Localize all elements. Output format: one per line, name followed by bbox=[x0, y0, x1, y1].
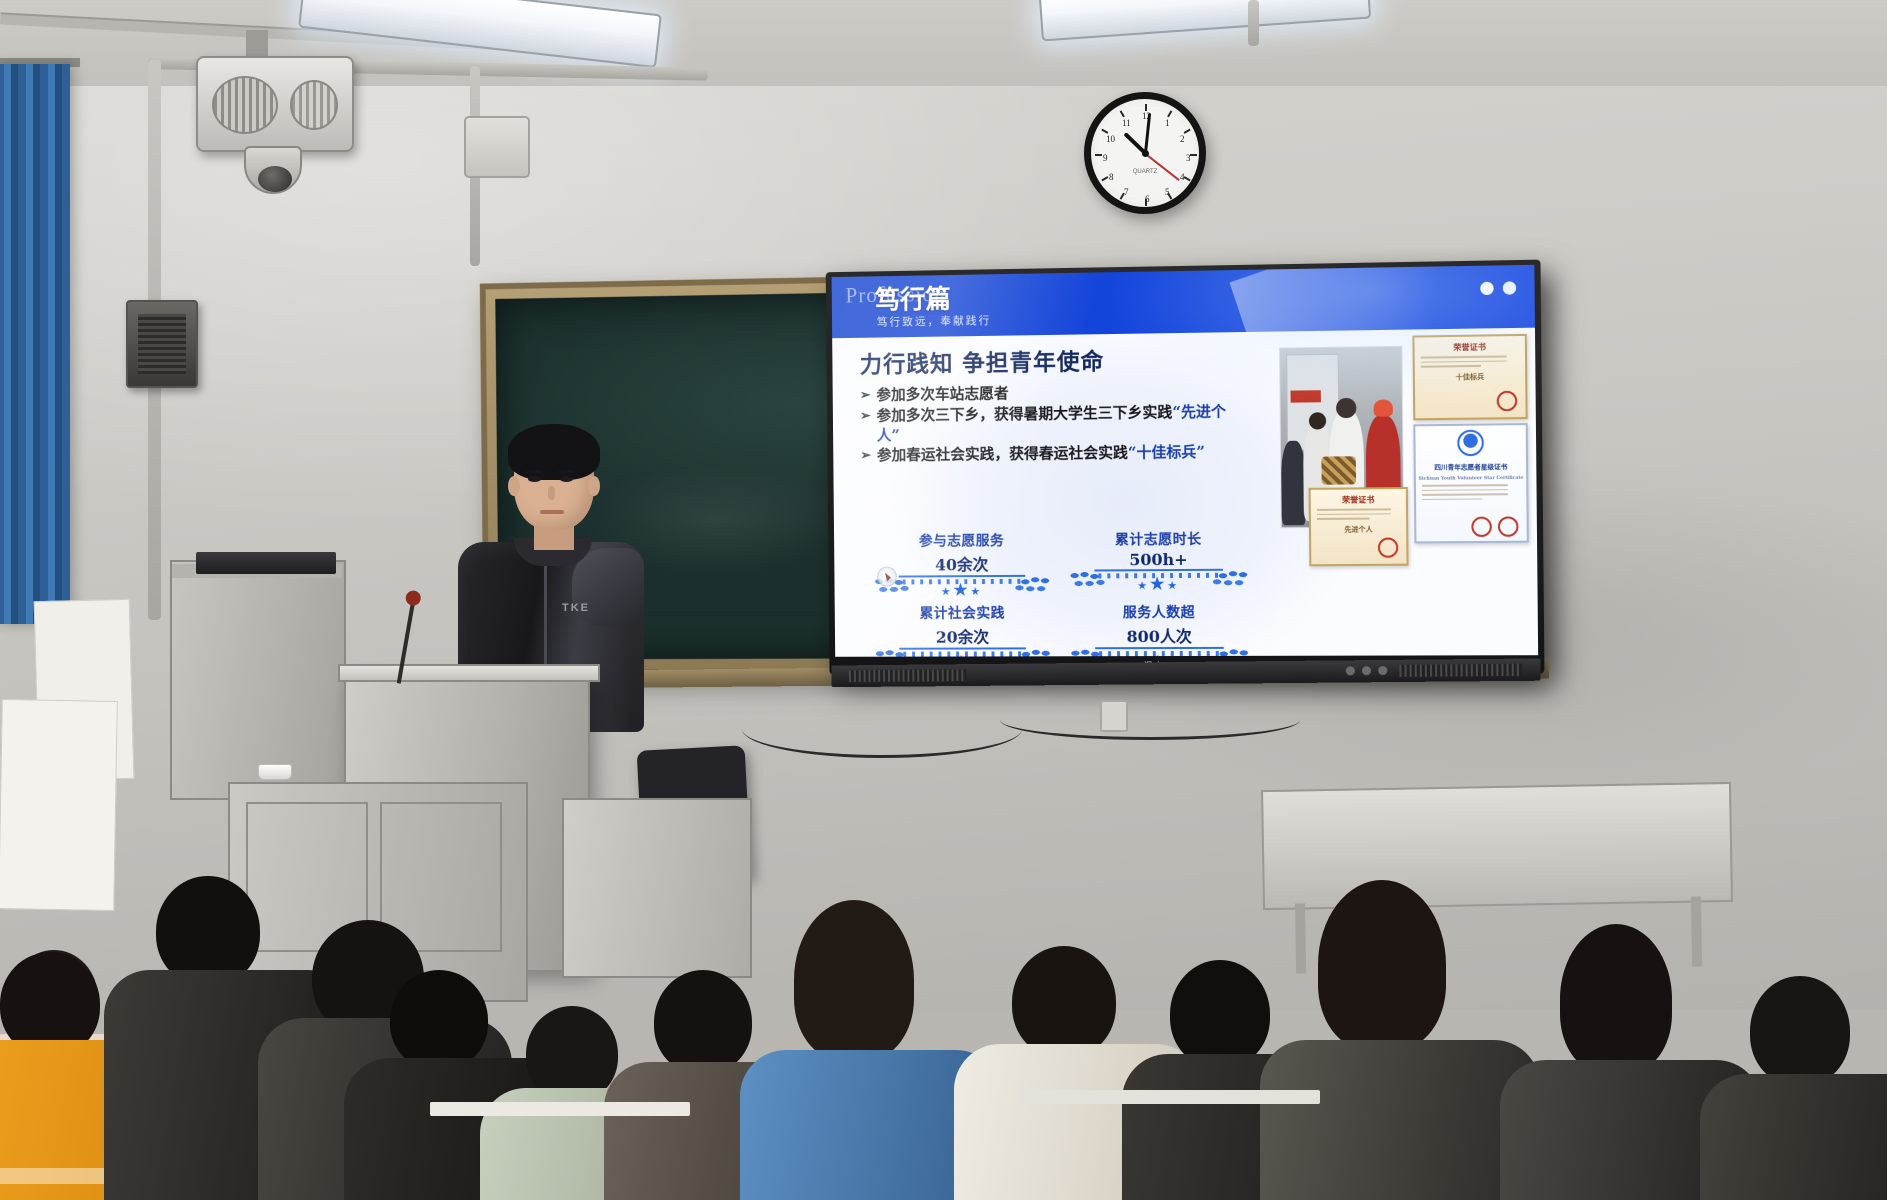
presenter-jacket-logo: TKE bbox=[562, 602, 590, 614]
student-head bbox=[654, 970, 752, 1074]
honor-certificate-top: 荣誉证书 十佳标兵 bbox=[1412, 334, 1527, 420]
presenter-eyebrow bbox=[558, 470, 574, 473]
audience-foreground bbox=[0, 800, 1887, 1200]
photo-person-head bbox=[1336, 398, 1356, 418]
certificate-title: 荣誉证书 bbox=[1311, 494, 1406, 506]
certificate-subtitle: Sichuan Youth Volunteer Star Certificate bbox=[1416, 476, 1526, 482]
clock-brand-text: QUARTZ bbox=[1091, 169, 1199, 175]
wall-junction-box bbox=[464, 116, 530, 178]
soundbar-button[interactable] bbox=[1378, 666, 1387, 675]
presenter-shoulder-panel bbox=[572, 548, 644, 626]
hanging-cable bbox=[742, 700, 1022, 758]
clock-numeral-7: 7 bbox=[1124, 187, 1129, 197]
bullet-arrow-icon: ➢ bbox=[860, 407, 871, 426]
lectern-top bbox=[338, 664, 600, 682]
presenter-eye bbox=[560, 476, 573, 482]
student-head bbox=[1560, 924, 1672, 1074]
student-desk bbox=[1020, 1090, 1320, 1104]
laurel-wreath-icon: ★★★ bbox=[1069, 567, 1250, 594]
clock-numeral-2: 2 bbox=[1180, 134, 1185, 144]
slide-header-band: Profession 笃行篇 笃行致远，奉献践行 bbox=[832, 265, 1535, 338]
certificate-subtitle: 先进个人 bbox=[1311, 524, 1406, 535]
presenter-hair bbox=[508, 424, 600, 480]
certificate-title: 四川青年志愿者星级证书 bbox=[1416, 461, 1526, 472]
interactive-display[interactable]: Profession 笃行篇 笃行致远，奉献践行 力行践知 争担青年使命 ➢ 参… bbox=[826, 260, 1545, 675]
stat-label: 参与志愿服务 bbox=[873, 530, 1051, 551]
soundbar-button[interactable] bbox=[1362, 666, 1371, 675]
presenter-eyebrow bbox=[526, 470, 542, 473]
slide-text-column: 力行践知 争担青年使命 ➢ 参加多次车站志愿者 ➢ 参加多次三下乡，获得暑期大学… bbox=[859, 340, 1246, 467]
photo-handbag bbox=[1321, 456, 1356, 485]
stat-card: 服务人数超 800人次 ★★★ bbox=[1069, 602, 1250, 657]
display-screen[interactable]: Profession 笃行篇 笃行致远，奉献践行 力行践知 争担青年使命 ➢ 参… bbox=[832, 265, 1539, 657]
slide-title: 力行践知 争担青年使命 bbox=[859, 340, 1245, 379]
conduit-pipe-right bbox=[1248, 0, 1259, 46]
clock-numeral-10: 10 bbox=[1106, 134, 1115, 144]
bullet-text-highlight: “十佳标兵” bbox=[1128, 443, 1205, 462]
laurel-wreath-icon: ★★★ bbox=[1069, 645, 1250, 657]
hanging-cable bbox=[1000, 700, 1300, 740]
certificate-seal-icon bbox=[1471, 517, 1492, 537]
certificate-seal-icon bbox=[1378, 538, 1398, 558]
clock-numeral-5: 5 bbox=[1165, 187, 1170, 197]
slide-body: 力行践知 争担青年使命 ➢ 参加多次车站志愿者 ➢ 参加多次三下乡，获得暑期大学… bbox=[832, 328, 1538, 657]
student-head bbox=[1012, 946, 1116, 1058]
stat-label: 服务人数超 bbox=[1069, 602, 1250, 623]
stat-value: 800人次 bbox=[1069, 623, 1250, 648]
photo-person bbox=[1281, 441, 1306, 526]
stat-card: 参与志愿服务 40余次 ★★★ bbox=[873, 530, 1051, 599]
bullet-text: 参加多次三下乡，获得暑期大学生三下乡实践“先进个人” bbox=[877, 402, 1246, 446]
clock-numeral-11: 11 bbox=[1122, 118, 1131, 128]
slide-media-column: 荣誉证书 十佳标兵 四川青年志愿者星级证书 Sichuan Youth Volu… bbox=[1273, 334, 1530, 649]
clock-numeral-3: 3 bbox=[1186, 153, 1191, 163]
presenter-eye bbox=[528, 476, 541, 482]
status-dot-2 bbox=[1503, 281, 1516, 294]
wall-speaker bbox=[126, 300, 198, 388]
av-equipment-box bbox=[196, 552, 336, 574]
certificate-seal-icon bbox=[1497, 391, 1518, 412]
list-item bbox=[1700, 950, 1887, 1200]
header-subtitle: 笃行致远，奉献践行 bbox=[877, 312, 992, 330]
certificate-subtitle: 十佳标兵 bbox=[1415, 371, 1525, 383]
bullet-arrow-icon: ➢ bbox=[860, 447, 871, 466]
stat-card: 累计志愿时长 500h+ ★★★ bbox=[1068, 529, 1249, 599]
student-head bbox=[1750, 976, 1850, 1086]
soundbar-grill-right bbox=[1399, 664, 1522, 677]
student-head bbox=[1318, 880, 1446, 1050]
soundbar-buttons[interactable] bbox=[1346, 666, 1388, 675]
projector-vent-left bbox=[212, 76, 278, 134]
list-item bbox=[1270, 880, 1530, 1200]
laurel-wreath-icon: ★★★ bbox=[873, 573, 1051, 600]
laurel-wreath-icon: ★★★ bbox=[874, 645, 1052, 656]
student-head bbox=[794, 900, 914, 1060]
list-item: ➢ 参加春运社会实践，获得春运社会实践“十佳标兵” bbox=[860, 443, 1246, 467]
stat-label: 累计志愿时长 bbox=[1068, 529, 1249, 550]
honor-certificate-bottom: 荣誉证书 先进个人 bbox=[1309, 487, 1409, 566]
presenter-ear bbox=[588, 476, 600, 496]
ceiling-projector bbox=[196, 56, 354, 152]
student-desk bbox=[430, 1102, 690, 1116]
bullet-text-main: 参加多次三下乡，获得暑期大学生三下乡实践 bbox=[877, 403, 1173, 424]
header-status-dots bbox=[1480, 281, 1516, 295]
student-body bbox=[1700, 1074, 1887, 1200]
bullet-text-main: 参加春运社会实践，获得春运社会实践 bbox=[877, 444, 1128, 464]
clock-center-pin bbox=[1142, 150, 1149, 157]
presenter-nose bbox=[548, 486, 555, 500]
presenter-mouth bbox=[540, 510, 564, 514]
bullet-text: 参加春运社会实践，获得春运社会实践“十佳标兵” bbox=[877, 443, 1246, 466]
stat-card: 累计社会实践 20余次 ★★★ bbox=[874, 603, 1052, 657]
paper-cup bbox=[258, 764, 292, 780]
clock-numeral-6: 6 bbox=[1145, 194, 1150, 204]
stats-grid: 参与志愿服务 40余次 ★★★ 累计志愿时长 500h+ bbox=[873, 529, 1250, 657]
stat-value: 20余次 bbox=[874, 623, 1052, 647]
student-head bbox=[1170, 960, 1270, 1068]
photo-fire-hydrant-sign bbox=[1291, 390, 1321, 402]
wall-outlet bbox=[1100, 700, 1128, 732]
stat-label: 累计社会实践 bbox=[874, 603, 1052, 624]
blue-curtain bbox=[0, 64, 70, 624]
clock-numeral-1: 1 bbox=[1165, 118, 1170, 128]
certificate-seal-icon bbox=[1498, 516, 1519, 536]
certificate-title: 荣誉证书 bbox=[1415, 341, 1525, 354]
photo-person-head bbox=[1309, 412, 1326, 429]
volunteer-badge-icon bbox=[1457, 430, 1484, 457]
wall-clock: 12 1 2 3 4 5 6 7 8 9 10 11 QUARTZ bbox=[1084, 92, 1206, 214]
volunteer-star-certificate: 四川青年志愿者星级证书 Sichuan Youth Volunteer Star… bbox=[1413, 423, 1529, 543]
soundbar-button[interactable] bbox=[1346, 666, 1355, 675]
photo-volunteer-cap bbox=[1373, 399, 1392, 416]
presenter-ear bbox=[508, 476, 520, 496]
header-swoosh bbox=[1230, 265, 1535, 338]
projector-vent-right bbox=[290, 80, 338, 130]
student-body bbox=[1260, 1040, 1540, 1200]
list-item: ➢ 参加多次三下乡，获得暑期大学生三下乡实践“先进个人” bbox=[860, 402, 1246, 446]
pointer-cursor-icon bbox=[877, 567, 897, 587]
status-dot-1 bbox=[1480, 282, 1493, 295]
student-head bbox=[390, 970, 488, 1070]
bullet-arrow-icon: ➢ bbox=[860, 386, 871, 405]
soundbar-grill-left bbox=[849, 669, 966, 682]
clock-numeral-9: 9 bbox=[1103, 153, 1108, 163]
classroom-scene: 12 1 2 3 4 5 6 7 8 9 10 11 QUARTZ Profes… bbox=[0, 0, 1887, 1200]
header-title: 笃行篇 bbox=[874, 279, 951, 317]
clock-second-hand bbox=[1145, 152, 1181, 180]
